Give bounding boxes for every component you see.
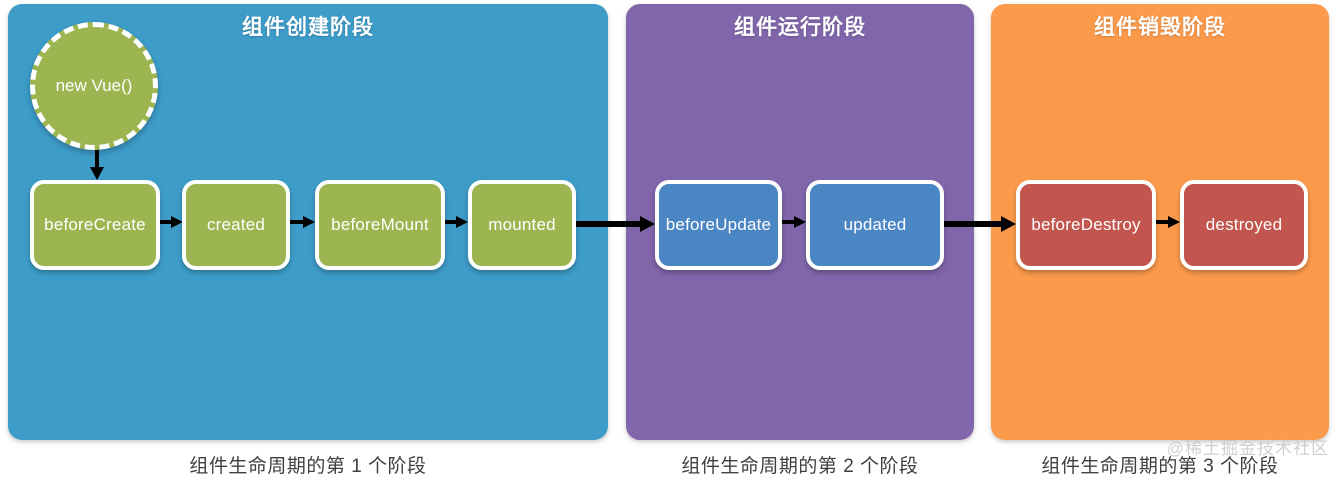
lifecycle-node-beforeupdate: beforeUpdate <box>655 180 782 270</box>
phase-caption-create: 组件生命周期的第 1 个阶段 <box>8 455 608 479</box>
lifecycle-node-beforedestroy: beforeDestroy <box>1016 180 1156 270</box>
lifecycle-node-destroyed: destroyed <box>1180 180 1308 270</box>
watermark: @稀土掘金技术社区 <box>1167 434 1329 459</box>
lifecycle-node-created: created <box>182 180 290 270</box>
new-vue-circle: new Vue() <box>30 22 158 150</box>
lifecycle-node-beforemount: beforeMount <box>315 180 445 270</box>
phase-title-destroy: 组件销毁阶段 <box>991 14 1329 42</box>
node-label: beforeUpdate <box>666 215 771 235</box>
node-label: created <box>207 215 265 235</box>
node-label: mounted <box>488 215 556 235</box>
new-vue-label: new Vue() <box>56 76 133 96</box>
phase-caption-run: 组件生命周期的第 2 个阶段 <box>626 455 974 479</box>
phase-title-run: 组件运行阶段 <box>626 14 974 42</box>
lifecycle-node-beforecreate: beforeCreate <box>30 180 160 270</box>
node-label: updated <box>844 215 907 235</box>
lifecycle-node-updated: updated <box>806 180 944 270</box>
lifecycle-diagram: 组件创建阶段 组件运行阶段 组件销毁阶段 new Vue() <box>0 0 1337 487</box>
node-label: beforeCreate <box>44 215 146 235</box>
lifecycle-node-mounted: mounted <box>468 180 576 270</box>
node-label: destroyed <box>1206 215 1282 235</box>
node-label: beforeDestroy <box>1031 215 1140 235</box>
node-label: beforeMount <box>331 215 429 235</box>
